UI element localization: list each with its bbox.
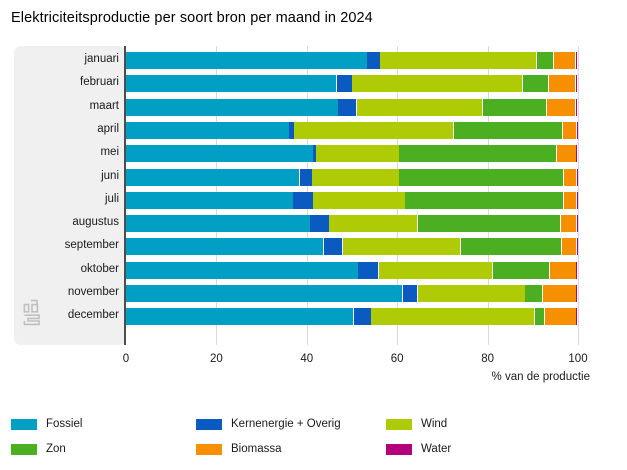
bar-row[interactable] xyxy=(126,99,578,116)
legend-label: Fossiel xyxy=(46,418,82,431)
bar-segment-fossiel[interactable] xyxy=(126,262,358,279)
bar-segment-fossiel[interactable] xyxy=(126,308,353,325)
legend-swatch xyxy=(196,444,222,455)
bar-segment-wind[interactable] xyxy=(329,215,417,232)
bar-segment-zon[interactable] xyxy=(399,145,556,162)
bar-segment-biomassa[interactable] xyxy=(564,169,576,186)
legend-label: Biomassa xyxy=(231,443,282,456)
bar-segment-biomassa[interactable] xyxy=(554,52,576,69)
bar-segment-biomassa[interactable] xyxy=(545,308,576,325)
legend-swatch xyxy=(196,419,222,430)
y-axis-label: augustus xyxy=(14,216,119,228)
bar-segment-wind[interactable] xyxy=(352,75,522,92)
bar-segment-biomassa[interactable] xyxy=(550,262,576,279)
y-axis-label: november xyxy=(14,286,119,298)
bar-segment-biomassa[interactable] xyxy=(564,192,576,209)
bar-segment-zon[interactable] xyxy=(405,192,563,209)
plot-area: januarifebruarimaartaprilmeijunijuliaugu… xyxy=(0,46,627,351)
bar-segment-fossiel[interactable] xyxy=(126,238,323,255)
bar-segment-water[interactable] xyxy=(577,215,578,232)
bar-segment-kernenergie-overig[interactable] xyxy=(289,122,293,139)
legend-item-biomassa[interactable]: Biomassa xyxy=(196,443,282,456)
legend-swatch xyxy=(386,444,412,455)
bar-segment-kernenergie-overig[interactable] xyxy=(354,308,371,325)
y-axis-label: januari xyxy=(14,53,119,65)
bar-segment-biomassa[interactable] xyxy=(557,145,576,162)
y-axis-label: september xyxy=(14,239,119,251)
bar-segment-kernenergie-overig[interactable] xyxy=(358,262,378,279)
x-axis-tick: 40 xyxy=(300,353,313,366)
legend-label: Wind xyxy=(421,418,447,431)
bar-segment-kernenergie-overig[interactable] xyxy=(367,52,380,69)
bar-row[interactable] xyxy=(126,192,578,209)
bar-segment-water[interactable] xyxy=(576,145,577,162)
y-axis-label: februari xyxy=(14,76,119,88)
bar-segment-kernenergie-overig[interactable] xyxy=(293,192,312,209)
bar-segment-kernenergie-overig[interactable] xyxy=(300,169,312,186)
bar-segment-kernenergie-overig[interactable] xyxy=(310,215,328,232)
bar-segment-zon[interactable] xyxy=(483,99,547,116)
bar-segment-wind[interactable] xyxy=(294,122,453,139)
bar-segment-wind[interactable] xyxy=(418,285,525,302)
bar-segment-zon[interactable] xyxy=(537,52,553,69)
bar-segment-fossiel[interactable] xyxy=(126,122,289,139)
bar-row[interactable] xyxy=(126,145,578,162)
bar-row[interactable] xyxy=(126,238,578,255)
bar-segment-wind[interactable] xyxy=(312,169,399,186)
bar-row[interactable] xyxy=(126,215,578,232)
bar-segment-wind[interactable] xyxy=(357,99,483,116)
x-axis-tick: 80 xyxy=(481,353,494,366)
legend-label: Kernenergie + Overig xyxy=(231,418,341,431)
legend-item-kernenergie-overig[interactable]: Kernenergie + Overig xyxy=(196,418,341,431)
bar-row[interactable] xyxy=(126,122,578,139)
x-axis-tick: 20 xyxy=(210,353,223,366)
legend-swatch xyxy=(386,419,412,430)
bar-segment-biomassa[interactable] xyxy=(543,285,576,302)
x-axis-tick: 60 xyxy=(391,353,404,366)
bar-segment-zon[interactable] xyxy=(461,238,561,255)
bar-segment-water[interactable] xyxy=(576,262,577,279)
chart-legend: FossielKernenergie + OverigWindZonBiomas… xyxy=(0,412,627,464)
bar-segment-biomassa[interactable] xyxy=(561,215,576,232)
y-axis-label: oktober xyxy=(14,263,119,275)
bar-segment-water[interactable] xyxy=(577,169,578,186)
x-axis-tick: 100 xyxy=(568,353,587,366)
legend-swatch xyxy=(11,419,37,430)
bar-segment-kernenergie-overig[interactable] xyxy=(403,285,417,302)
bar-segment-water[interactable] xyxy=(577,192,578,209)
y-axis-label: december xyxy=(14,309,119,321)
y-axis-label: maart xyxy=(14,100,119,112)
y-axis-labels: januarifebruarimaartaprilmeijunijuliaugu… xyxy=(14,46,119,345)
bar-segment-biomassa[interactable] xyxy=(547,99,575,116)
bar-segment-fossiel[interactable] xyxy=(126,145,313,162)
legend-item-fossiel[interactable]: Fossiel xyxy=(11,418,82,431)
bar-segment-wind[interactable] xyxy=(343,238,460,255)
x-axis-title: % van de productie xyxy=(0,371,590,383)
y-axis-label: mei xyxy=(14,146,119,158)
bar-segment-wind[interactable] xyxy=(316,145,399,162)
bar-segment-fossiel[interactable] xyxy=(126,99,338,116)
bar-segment-kernenergie-overig[interactable] xyxy=(338,99,355,116)
chart-title: Elektriciteitsproductie per soort bron p… xyxy=(11,9,373,27)
bar-segment-zon[interactable] xyxy=(535,308,544,325)
legend-label: Zon xyxy=(46,443,66,456)
bar-segment-fossiel[interactable] xyxy=(126,75,336,92)
bar-segment-fossiel[interactable] xyxy=(126,52,367,69)
bar-segment-water[interactable] xyxy=(576,75,578,92)
bar-segment-water[interactable] xyxy=(577,238,578,255)
bar-segment-water[interactable] xyxy=(576,308,577,325)
bar-segment-water[interactable] xyxy=(576,285,577,302)
bar-segment-biomassa[interactable] xyxy=(563,122,576,139)
legend-item-wind[interactable]: Wind xyxy=(386,418,447,431)
bar-row[interactable] xyxy=(126,308,578,325)
bar-segment-zon[interactable] xyxy=(525,285,542,302)
legend-swatch xyxy=(11,444,37,455)
legend-label: Water xyxy=(421,443,451,456)
bar-segment-kernenergie-overig[interactable] xyxy=(324,238,343,255)
y-axis-label: juli xyxy=(14,193,119,205)
bar-segment-water[interactable] xyxy=(576,52,578,69)
bar-segment-zon[interactable] xyxy=(523,75,549,92)
bar-segment-wind[interactable] xyxy=(380,52,536,69)
bar-row[interactable] xyxy=(126,169,578,186)
bar-row[interactable] xyxy=(126,52,578,69)
bar-row[interactable] xyxy=(126,262,578,279)
bar-segment-zon[interactable] xyxy=(418,215,561,232)
bar-segment-wind[interactable] xyxy=(371,308,534,325)
bar-segment-fossiel[interactable] xyxy=(126,169,299,186)
y-axis-label: juni xyxy=(14,170,119,182)
bar-segment-water[interactable] xyxy=(576,99,578,116)
gridline xyxy=(578,46,579,345)
bar-segment-wind[interactable] xyxy=(379,262,493,279)
bar-segment-biomassa[interactable] xyxy=(549,75,575,92)
bar-segment-zon[interactable] xyxy=(399,169,563,186)
y-axis-label: april xyxy=(14,123,119,135)
bar-segment-biomassa[interactable] xyxy=(562,238,576,255)
bar-segment-zon[interactable] xyxy=(493,262,549,279)
bar-segment-water[interactable] xyxy=(577,122,578,139)
x-axis: 020406080100 xyxy=(0,351,627,371)
bar-segment-kernenergie-overig[interactable] xyxy=(337,75,352,92)
bar-row[interactable] xyxy=(126,285,578,302)
bars-container xyxy=(126,46,578,345)
bar-row[interactable] xyxy=(126,75,578,92)
bar-segment-fossiel[interactable] xyxy=(126,192,293,209)
legend-item-water[interactable]: Water xyxy=(386,443,451,456)
bar-segment-zon[interactable] xyxy=(454,122,563,139)
x-axis-tick: 0 xyxy=(123,353,129,366)
legend-item-zon[interactable]: Zon xyxy=(11,443,66,456)
bar-segment-wind[interactable] xyxy=(313,192,405,209)
bar-segment-fossiel[interactable] xyxy=(126,285,402,302)
bar-segment-fossiel[interactable] xyxy=(126,215,310,232)
